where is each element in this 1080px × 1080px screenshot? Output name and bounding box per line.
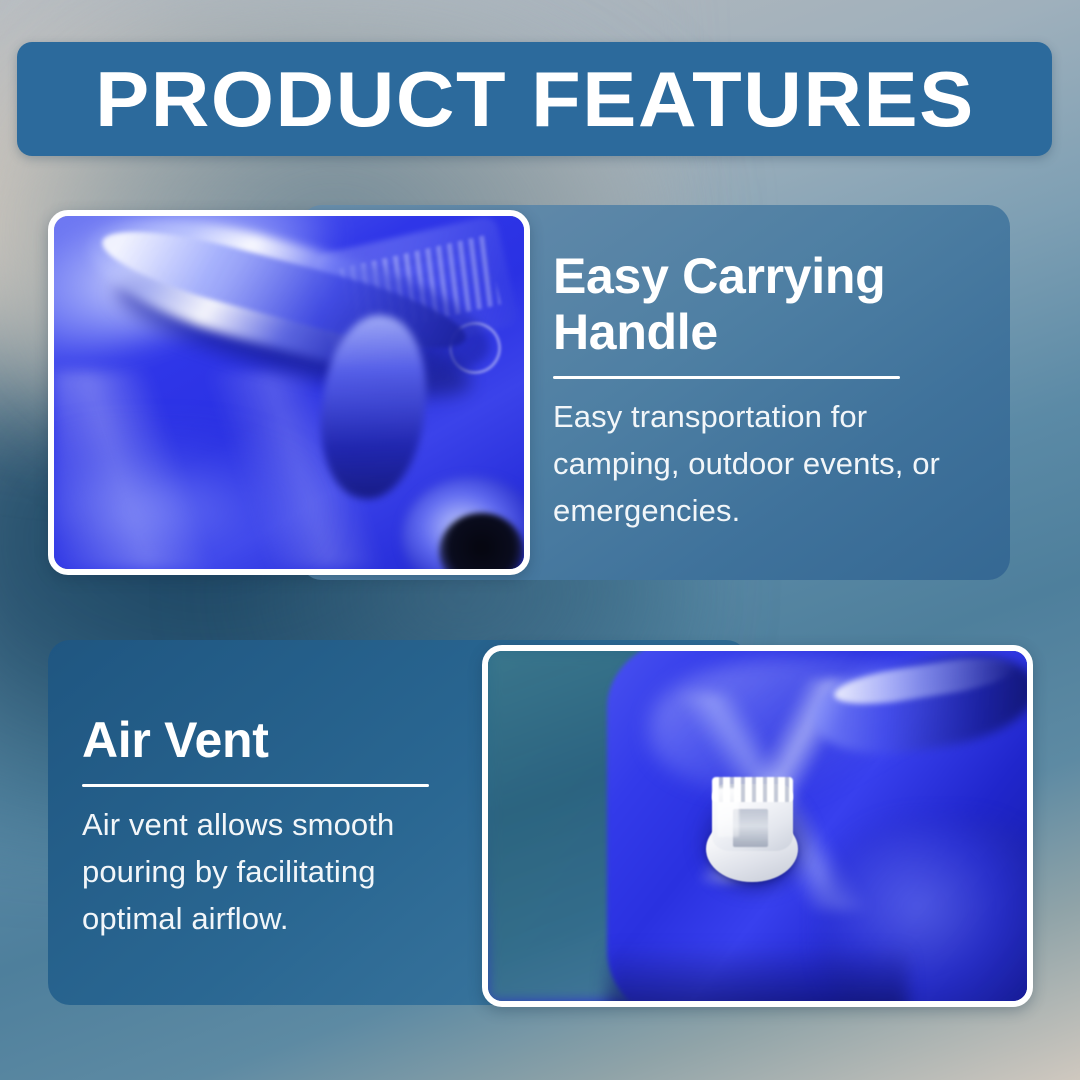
product-features-infographic: PRODUCT FEATURES Easy Carrying xyxy=(0,0,1080,1080)
page-title: PRODUCT FEATURES xyxy=(95,60,975,138)
feature-image-easy-carrying-handle xyxy=(48,210,530,575)
feature-divider xyxy=(553,376,900,379)
feature-text-air-vent: Air Vent Air vent allows smooth pouring … xyxy=(82,712,482,942)
feature-image-air-vent xyxy=(482,645,1033,1007)
handle-photo-artwork xyxy=(54,216,524,569)
feature-description: Air vent allows smooth pouring by facili… xyxy=(82,801,482,942)
feature-text-easy-carrying-handle: Easy Carrying Handle Easy transportation… xyxy=(553,248,983,534)
vent-cap-highlight xyxy=(717,788,739,837)
header-banner: PRODUCT FEATURES xyxy=(17,42,1052,156)
vent-photo-artwork xyxy=(488,651,1027,1001)
feature-description: Easy transportation for camping, outdoor… xyxy=(553,393,983,534)
feature-divider xyxy=(82,784,429,787)
handle-lower-sheen xyxy=(54,428,327,569)
vent-can-bottom-shadow xyxy=(607,945,909,1001)
feature-title: Air Vent xyxy=(82,712,482,768)
feature-title: Easy Carrying Handle xyxy=(553,248,983,360)
